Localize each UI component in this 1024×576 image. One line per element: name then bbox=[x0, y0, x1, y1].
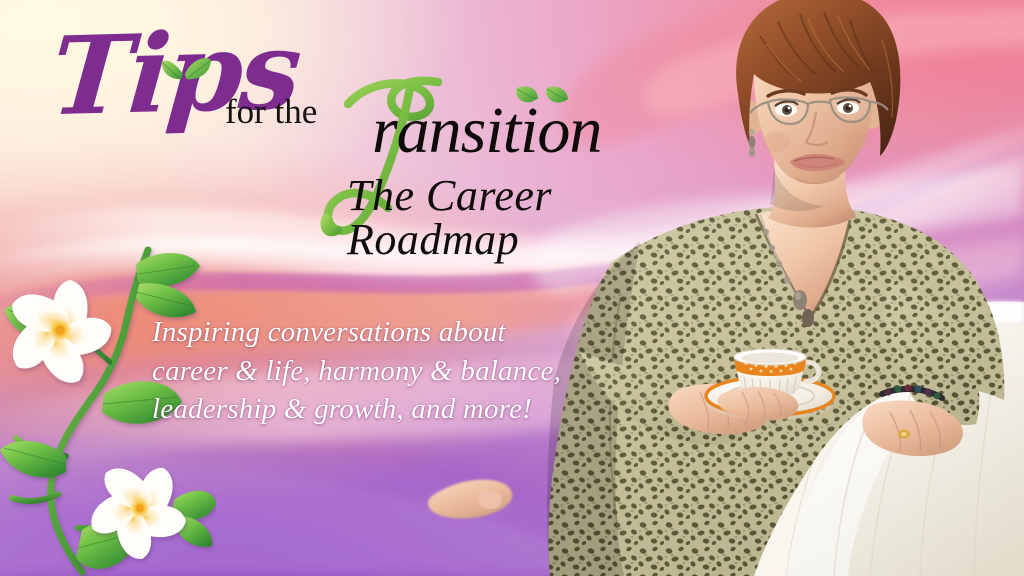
tagline-block: Inspiring conversations about career & l… bbox=[152, 313, 592, 429]
tagline-line-2: career & life, harmony & balance, bbox=[152, 352, 592, 391]
tagline-line-3: leadership & growth, and more! bbox=[152, 390, 592, 429]
leaf-accent-tips-icon bbox=[161, 56, 213, 90]
leaf-accent-transition-icon bbox=[515, 84, 569, 110]
drop-earrings bbox=[749, 129, 756, 157]
tagline-line-1: Inspiring conversations about bbox=[152, 313, 592, 352]
logo-subtitle: The Career Roadmap bbox=[347, 174, 702, 262]
head bbox=[736, 0, 900, 184]
plumeria-flower-upper bbox=[4, 280, 117, 391]
bare-foot bbox=[428, 480, 512, 519]
promo-banner: Tips for the bbox=[0, 0, 1024, 576]
logo-word-for-the: for the bbox=[225, 92, 317, 132]
show-logo: Tips for the bbox=[42, 16, 702, 231]
